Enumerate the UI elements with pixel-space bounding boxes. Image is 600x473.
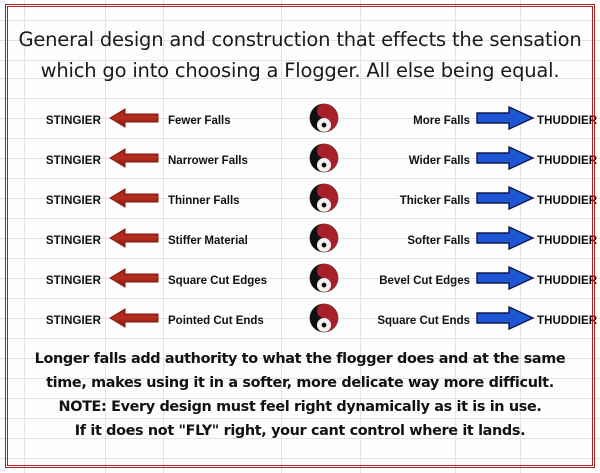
right-attribute-label: Thicker Falls [400,195,470,207]
thuddier-cell: THUDDIER [537,269,600,288]
stingier-cell: STINGIER [0,109,105,128]
matrix-row: STINGIERSquare Cut EdgesBevel Cut EdgesT… [0,258,600,298]
right-attribute-cell: Wider Falls [362,149,472,168]
left-attribute-cell: Fewer Falls [163,109,285,128]
stingier-label: STINGIER [46,155,101,167]
title-line-2: which go into choosing a Flogger. All el… [14,55,586,86]
yin-yang-cell [285,263,362,293]
left-arrow-cell [105,187,163,209]
thuddier-label: THUDDIER [537,195,597,207]
matrix-row: STINGIERPointed Cut EndsSquare Cut EndsT… [0,298,600,338]
yin-yang-cell [285,223,362,253]
arrow-right-blue-icon [475,265,535,291]
arrow-left-red-icon [108,147,160,169]
yin-yang-icon [309,303,339,333]
right-attribute-cell: Thicker Falls [362,189,472,208]
thuddier-cell: THUDDIER [537,109,600,128]
spreadsheet-canvas: General design and construction that eff… [0,0,600,473]
stingier-label: STINGIER [46,235,101,247]
yin-yang-icon [309,223,339,253]
yin-yang-icon [309,263,339,293]
matrix-row: STINGIERFewer FallsMore FallsTHUDDIER [0,98,600,138]
right-attribute-label: Bevel Cut Edges [379,275,470,287]
thuddier-cell: THUDDIER [537,229,600,248]
right-arrow-cell [472,185,537,211]
left-attribute-cell: Narrower Falls [163,149,285,168]
arrow-left-red-icon [108,187,160,209]
left-attribute-label: Square Cut Edges [168,275,267,287]
stingier-cell: STINGIER [0,189,105,208]
right-attribute-cell: Bevel Cut Edges [362,269,472,288]
title-line-1: General design and construction that eff… [14,24,586,55]
page-title: General design and construction that eff… [14,24,586,86]
left-arrow-cell [105,307,163,329]
stingier-label: STINGIER [46,315,101,327]
yin-yang-cell [285,143,362,173]
left-arrow-cell [105,147,163,169]
right-attribute-label: Square Cut Ends [377,315,470,327]
matrix-row: STINGIERStiffer MaterialSofter FallsTHUD… [0,218,600,258]
stingier-cell: STINGIER [0,149,105,168]
right-arrow-cell [472,225,537,251]
yin-yang-cell [285,183,362,213]
thuddier-label: THUDDIER [537,275,597,287]
thuddier-label: THUDDIER [537,235,597,247]
left-attribute-label: Pointed Cut Ends [168,315,264,327]
stingier-label: STINGIER [46,115,101,127]
footer-line-2: time, makes using it in a softer, more d… [14,371,586,395]
arrow-right-blue-icon [475,225,535,251]
yin-yang-icon [309,183,339,213]
left-attribute-cell: Square Cut Edges [163,269,285,288]
left-attribute-label: Narrower Falls [168,155,248,167]
stingier-cell: STINGIER [0,309,105,328]
right-arrow-cell [472,145,537,171]
thuddier-cell: THUDDIER [537,149,600,168]
right-arrow-cell [472,265,537,291]
yin-yang-cell [285,103,362,133]
comparison-matrix: STINGIERFewer FallsMore FallsTHUDDIERSTI… [0,98,600,338]
left-attribute-cell: Stiffer Material [163,229,285,248]
matrix-row: STINGIERThinner FallsThicker FallsTHUDDI… [0,178,600,218]
stingier-label: STINGIER [46,195,101,207]
thuddier-label: THUDDIER [537,155,597,167]
footer-line-1: Longer falls add authority to what the f… [14,347,586,371]
arrow-right-blue-icon [475,105,535,131]
arrow-left-red-icon [108,267,160,289]
left-arrow-cell [105,107,163,129]
thuddier-label: THUDDIER [537,115,597,127]
footer-note: Longer falls add authority to what the f… [14,347,586,443]
left-attribute-label: Thinner Falls [168,195,240,207]
arrow-right-blue-icon [475,305,535,331]
left-attribute-cell: Thinner Falls [163,189,285,208]
stingier-label: STINGIER [46,275,101,287]
left-arrow-cell [105,267,163,289]
thuddier-cell: THUDDIER [537,189,600,208]
right-attribute-label: Softer Falls [407,235,470,247]
yin-yang-icon [309,143,339,173]
arrow-right-blue-icon [475,185,535,211]
arrow-left-red-icon [108,227,160,249]
yin-yang-cell [285,303,362,333]
left-attribute-label: Stiffer Material [168,235,248,247]
right-attribute-cell: More Falls [362,109,472,128]
arrow-left-red-icon [108,107,160,129]
thuddier-label: THUDDIER [537,315,597,327]
right-attribute-label: More Falls [413,115,470,127]
right-arrow-cell [472,305,537,331]
right-attribute-cell: Square Cut Ends [362,309,472,328]
left-attribute-label: Fewer Falls [168,115,231,127]
left-arrow-cell [105,227,163,249]
footer-line-3: NOTE: Every design must feel right dynam… [14,395,586,419]
right-attribute-label: Wider Falls [409,155,470,167]
stingier-cell: STINGIER [0,229,105,248]
right-arrow-cell [472,105,537,131]
right-attribute-cell: Softer Falls [362,229,472,248]
thuddier-cell: THUDDIER [537,309,600,328]
left-attribute-cell: Pointed Cut Ends [163,309,285,328]
yin-yang-icon [309,103,339,133]
footer-line-4: If it does not "FLY" right, your cant co… [14,419,586,443]
arrow-right-blue-icon [475,145,535,171]
matrix-row: STINGIERNarrower FallsWider FallsTHUDDIE… [0,138,600,178]
arrow-left-red-icon [108,307,160,329]
stingier-cell: STINGIER [0,269,105,288]
